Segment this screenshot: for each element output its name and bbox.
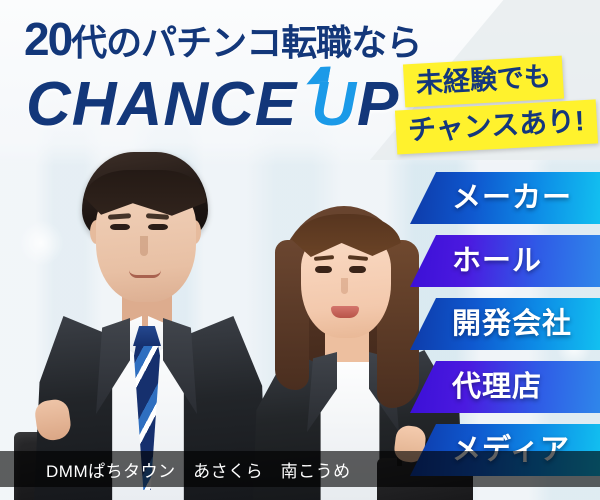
brand-logo: CHANCEUP [26,74,399,136]
logo-chance: CHANCE [26,70,297,139]
credit-bar: DMMぱちタウン あさくら 南こうめ [0,451,600,487]
menu-item-developer-label: 開発会社 [452,310,572,339]
menu-item-hall[interactable]: ホール [410,235,600,287]
banner-root: 20代のパチンコ転職なら CHANCEUP 未経験でも チャンスあり! [0,0,600,500]
man-eye-left [110,224,130,230]
menu-item-maker-label: メーカー [452,184,572,213]
woman-eye-left [315,266,332,273]
menu-item-maker[interactable]: メーカー [410,172,600,224]
logo-up: UP [311,74,399,136]
woman-mouth [331,306,359,318]
headline-suffix: 代のパチンコ転職 [71,22,351,63]
page-title: 20代のパチンコ転職なら [24,16,421,62]
status-badge-experience: 未経験でも [403,56,564,108]
man-nose [140,236,148,256]
man-eye-right [148,224,168,230]
woman-eye-right [349,266,366,273]
man-mouth [129,270,161,278]
headline-number: 20 [24,13,71,65]
logo-up-p: P [357,70,399,139]
menu-item-hall-label: ホール [452,247,542,276]
category-menu: メーカー ホール 開発会社 代理店 メディア [410,172,600,487]
photo-person-man [30,150,280,500]
credit-text: DMMぱちタウン あさくら 南こうめ [0,457,351,482]
woman-nose [341,278,348,294]
menu-item-agency-label: 代理店 [452,373,542,402]
logo-up-u: U [311,70,357,139]
menu-item-developer[interactable]: 開発会社 [410,298,600,350]
headline-tail: なら [351,22,421,63]
menu-item-agency[interactable]: 代理店 [410,361,600,413]
